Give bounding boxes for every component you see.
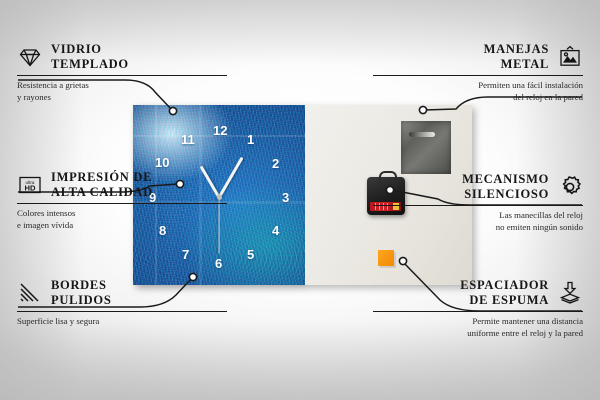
clock-numeral-12: 12 xyxy=(213,124,227,137)
hanger-slot xyxy=(409,132,435,137)
clock-numeral-3: 3 xyxy=(282,191,289,204)
feature-divider xyxy=(373,205,583,207)
feature-divider xyxy=(373,75,583,77)
feature-heading: ultra HD IMPRESIÓN DE ALTA CALIDAD xyxy=(17,170,227,200)
infographic-canvas: 12 1 2 3 4 5 6 7 8 9 10 11 xyxy=(0,0,600,400)
clock-numeral-1: 1 xyxy=(247,133,254,146)
feature-divider xyxy=(17,203,227,205)
clock-numeral-7: 7 xyxy=(182,248,189,261)
ultra-hd-icon: ultra HD xyxy=(17,172,43,198)
clock-numeral-11: 11 xyxy=(181,133,195,146)
feature-mecanismo-silencioso[interactable]: MECANISMO SILENCIOSO Las manecillas del … xyxy=(373,172,583,233)
feature-divider xyxy=(373,311,583,313)
feature-divider xyxy=(17,75,227,77)
feature-manejas-metal[interactable]: MANEJAS METAL Permiten una fácil instala… xyxy=(373,42,583,103)
foam-spacer-icon xyxy=(557,280,583,306)
polished-edge-icon xyxy=(17,280,43,306)
feature-title: ESPACIADOR DE ESPUMA xyxy=(460,278,549,308)
feature-title: MECANISMO SILENCIOSO xyxy=(462,172,549,202)
feature-title: IMPRESIÓN DE ALTA CALIDAD xyxy=(51,170,153,200)
gear-icon xyxy=(557,174,583,200)
clock-numeral-10: 10 xyxy=(155,156,169,169)
feature-espaciador-espuma[interactable]: ESPACIADOR DE ESPUMA Permite mantener un… xyxy=(373,278,583,339)
feature-title: BORDES PULIDOS xyxy=(51,278,111,308)
diamond-icon xyxy=(17,44,43,70)
feature-heading: MECANISMO SILENCIOSO xyxy=(373,172,583,202)
hanger-plate-part xyxy=(401,121,451,174)
clock-numeral-2: 2 xyxy=(272,157,279,170)
clock-numeral-4: 4 xyxy=(272,224,279,237)
feature-bordes-pulidos[interactable]: BORDES PULIDOS Superficie lisa y segura xyxy=(17,278,227,328)
svg-text:HD: HD xyxy=(25,183,36,192)
feature-divider xyxy=(17,311,227,313)
feature-heading: ESPACIADOR DE ESPUMA xyxy=(373,278,583,308)
clock-numeral-6: 6 xyxy=(215,257,222,270)
clock-numeral-5: 5 xyxy=(247,248,254,261)
feature-impresion-alta-calidad[interactable]: ultra HD IMPRESIÓN DE ALTA CALIDAD Color… xyxy=(17,170,227,231)
foam-spacer-part xyxy=(378,250,394,266)
feature-heading: VIDRIO TEMPLADO xyxy=(17,42,227,72)
picture-hanger-icon xyxy=(557,44,583,70)
feature-title: MANEJAS METAL xyxy=(484,42,549,72)
feature-heading: MANEJAS METAL xyxy=(373,42,583,72)
feature-vidrio-templado[interactable]: VIDRIO TEMPLADO Resistencia a grietas y … xyxy=(17,42,227,103)
feature-title: VIDRIO TEMPLADO xyxy=(51,42,129,72)
feature-heading: BORDES PULIDOS xyxy=(17,278,227,308)
